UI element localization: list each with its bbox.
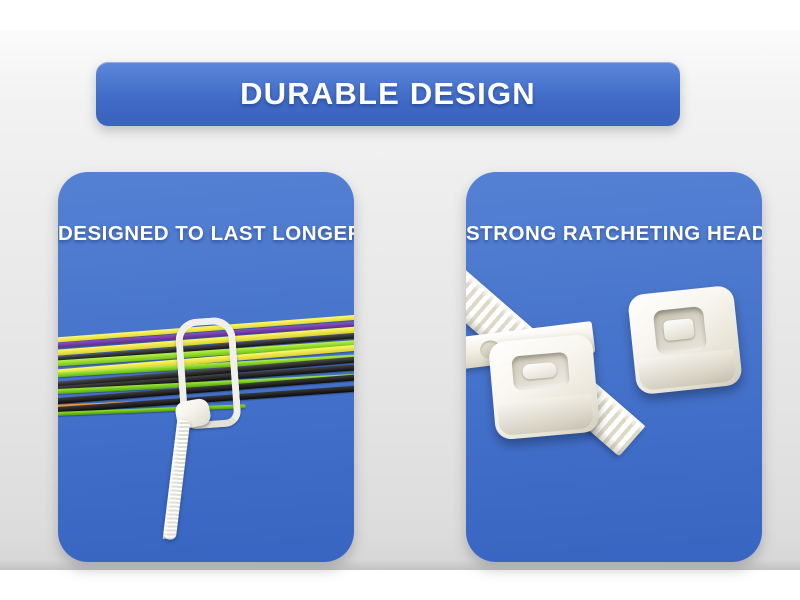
title-banner: DURABLE DESIGN	[96, 62, 680, 126]
ratchet-head-left	[488, 334, 600, 441]
panel-caption-right: STRONG RATCHETING HEAD	[466, 222, 762, 246]
ratchet-head-right	[627, 285, 743, 396]
ratchet-head-face	[497, 394, 594, 436]
ratchet-head-face	[638, 349, 737, 391]
ratchet-head-opening	[511, 352, 570, 391]
feature-panel-strong-ratcheting-head: STRONG RATCHETING HEAD	[466, 172, 762, 562]
panel-caption-left: DESIGNED TO LAST LONGER	[58, 222, 354, 246]
cable-tie-tail	[163, 420, 191, 541]
feature-panel-designed-to-last-longer: DESIGNED TO LAST LONGER	[58, 172, 354, 562]
ratchet-head-opening	[653, 306, 707, 355]
infographic-canvas: DURABLE DESIGN	[0, 0, 800, 600]
page-title: DURABLE DESIGN	[240, 76, 536, 112]
